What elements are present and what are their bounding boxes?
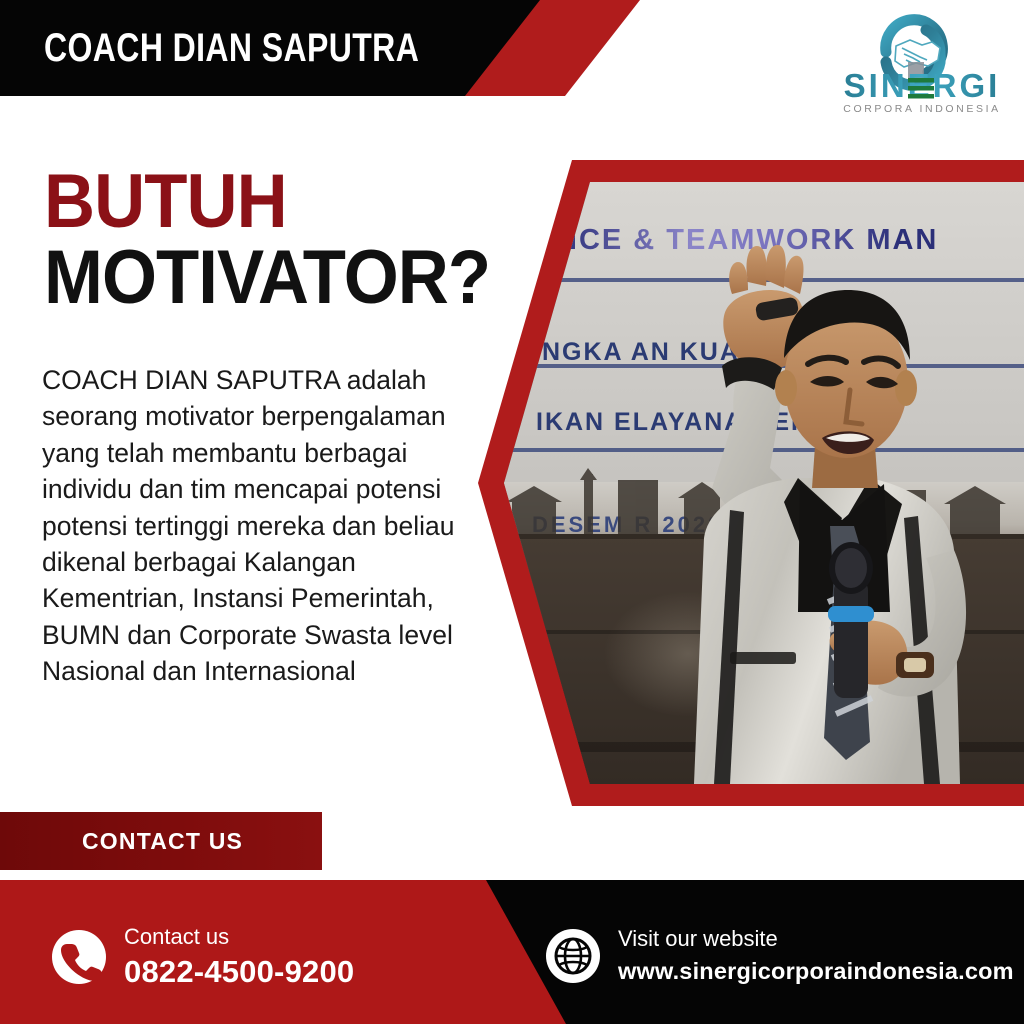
logo-wordmark: SINERGI xyxy=(844,67,1001,104)
contact-us-label: CONTACT US xyxy=(82,828,243,855)
headline-line-2: MOTIVATOR? xyxy=(44,240,481,316)
logo-tagline: CORPORA INDONESIA xyxy=(843,103,1000,115)
body-paragraph: COACH DIAN SAPUTRA adalah seorang motiva… xyxy=(42,362,460,690)
logo-artwork: SINERGI CORPORA INDONESIA xyxy=(824,6,1020,118)
headline-block: BUTUH MOTIVATOR? xyxy=(44,166,514,316)
contact-us-tab[interactable]: CONTACT US xyxy=(0,812,322,870)
microphone xyxy=(828,542,874,698)
sinergi-logo: SINERGI CORPORA INDONESIA xyxy=(824,6,1020,118)
headline-line-1: BUTUH xyxy=(44,166,481,238)
speaker-photo: NCE & TEAMWORK MAN NGKA AN KUALITAS TEA … xyxy=(498,182,1024,784)
phone-number: 0822-4500-9200 xyxy=(124,952,354,992)
website-url: www.sinergicorporaindonesia.com xyxy=(618,954,1014,988)
footer-bar: Contact us 0822-4500-9200 Visit our webs… xyxy=(0,880,1024,1024)
footer-website-block[interactable]: Visit our website www.sinergicorporaindo… xyxy=(546,924,1014,988)
globe-icon xyxy=(546,929,600,983)
speaker-figure xyxy=(498,182,1024,784)
website-sub-label: Visit our website xyxy=(618,924,1014,954)
footer-phone-block[interactable]: Contact us 0822-4500-9200 xyxy=(52,922,354,992)
phone-icon xyxy=(52,930,106,984)
page-title: COACH DIAN SAPUTRA xyxy=(44,20,419,76)
poster-canvas: COACH DIAN SAPUTRA xyxy=(0,0,1024,1024)
phone-sub-label: Contact us xyxy=(124,922,354,952)
mic-blue-band xyxy=(828,606,874,622)
